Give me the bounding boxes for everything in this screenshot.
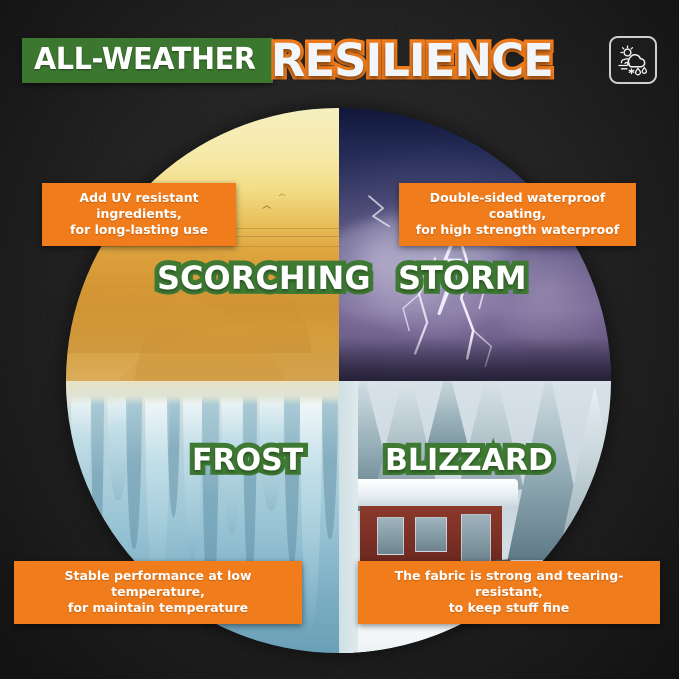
callout-storm: Double-sided waterproof coating, for hig…: [399, 183, 636, 246]
callout-frost-line2: for maintain temperature: [24, 600, 292, 616]
label-scorching: SCORCHING: [157, 262, 371, 294]
bird-icon: ︿: [279, 190, 286, 197]
header-banner: ALL-WEATHER RESILIENCE: [22, 32, 657, 88]
callout-frost-line1: Stable performance at low temperature,: [24, 568, 292, 600]
label-blizzard: BLIZZARD: [385, 446, 553, 476]
poster-root: ALL-WEATHER RESILIENCE: [0, 0, 679, 679]
bird-icon: ︿: [262, 201, 271, 210]
title-resilience: RESILIENCE: [271, 38, 553, 83]
callout-storm-line1: Double-sided waterproof coating,: [409, 190, 626, 222]
title-resilience-block: RESILIENCE: [271, 38, 553, 83]
callout-frost: Stable performance at low temperature, f…: [14, 561, 302, 624]
callout-blizzard: The fabric is strong and tearing-resista…: [358, 561, 660, 624]
label-storm: STORM: [398, 262, 527, 294]
callout-blizzard-line1: The fabric is strong and tearing-resista…: [368, 568, 650, 600]
callout-scorching-line1: Add UV resistant ingredients,: [52, 190, 226, 222]
title-all-weather-block: ALL-WEATHER: [22, 38, 273, 83]
callout-blizzard-line2: to keep stuff fine: [368, 600, 650, 616]
label-frost: FROST: [192, 446, 303, 476]
sun-cloud-rain-snow-wind-icon: [616, 43, 650, 77]
weather-badge: [609, 36, 657, 84]
callout-scorching-line2: for long-lasting use: [52, 222, 226, 238]
callout-scorching: Add UV resistant ingredients, for long-l…: [42, 183, 236, 246]
callout-storm-line2: for high strength waterproof: [409, 222, 626, 238]
title-all-weather: ALL-WEATHER: [34, 45, 255, 75]
